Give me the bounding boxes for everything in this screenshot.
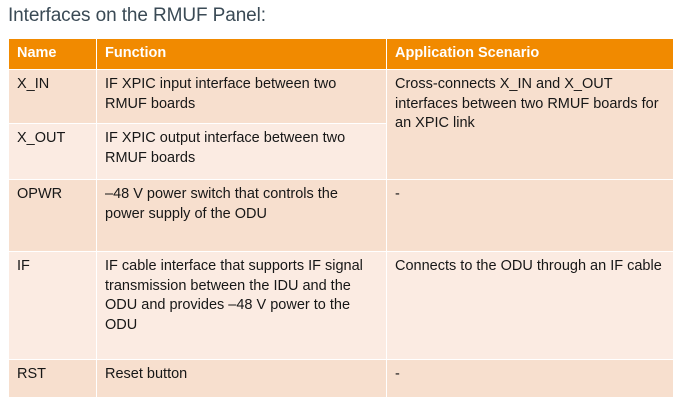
cell-function-rst: Reset button: [97, 360, 387, 398]
table-row: IF IF cable interface that supports IF s…: [9, 252, 674, 360]
table-header: Name Function Application Scenario: [9, 39, 674, 70]
cell-function-opwr: –48 V power switch that controls the pow…: [97, 180, 387, 252]
table-header-row: Name Function Application Scenario: [9, 39, 674, 70]
cell-application-scenario-xpic: Cross-connects X_IN and X_OUT interfaces…: [387, 70, 674, 180]
cell-name-x-out: X_OUT: [9, 124, 97, 180]
cell-function-if: IF cable interface that supports IF sign…: [97, 252, 387, 360]
table-row: RST Reset button -: [9, 360, 674, 398]
cell-function-x-in: IF XPIC input interface between two RMUF…: [97, 70, 387, 124]
cell-name-if: IF: [9, 252, 97, 360]
cell-name-rst: RST: [9, 360, 97, 398]
cell-application-scenario-rst: -: [387, 360, 674, 398]
cell-name-opwr: OPWR: [9, 180, 97, 252]
table-row: X_IN IF XPIC input interface between two…: [9, 70, 674, 124]
table-row: OPWR –48 V power switch that controls th…: [9, 180, 674, 252]
column-header-function: Function: [97, 39, 387, 70]
interfaces-table: Name Function Application Scenario X_IN …: [8, 38, 674, 398]
cell-application-scenario-if: Connects to the ODU through an IF cable: [387, 252, 674, 360]
table-body: X_IN IF XPIC input interface between two…: [9, 70, 674, 398]
cell-name-x-in: X_IN: [9, 70, 97, 124]
page-root: Interfaces on the RMUF Panel: Name Funct…: [0, 0, 688, 405]
cell-function-x-out: IF XPIC output interface between two RMU…: [97, 124, 387, 180]
column-header-name: Name: [9, 39, 97, 70]
column-header-application-scenario: Application Scenario: [387, 39, 674, 70]
cell-application-scenario-opwr: -: [387, 180, 674, 252]
page-title: Interfaces on the RMUF Panel:: [8, 4, 266, 28]
